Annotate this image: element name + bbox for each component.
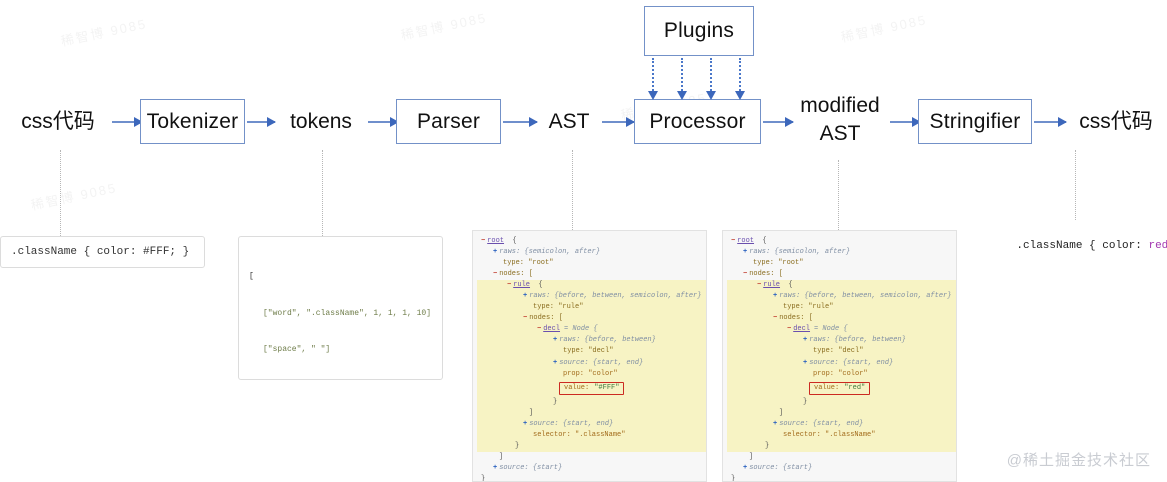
node-tokenizer[interactable]: Tokenizer (140, 99, 245, 144)
panel-ast-after: −root { +raws: {semicolon, after} type: … (722, 230, 957, 482)
background-watermark: 稀智博 9085 (839, 9, 929, 46)
collapse-toggle-icon[interactable]: − (743, 270, 747, 278)
ast-row[interactable]: +raws: {before, between, semicolon, afte… (727, 291, 956, 302)
ast-row: ] (477, 408, 706, 419)
ast-row[interactable]: −rule { (477, 280, 706, 291)
ast-row: ] (727, 408, 956, 419)
arrow-plugin-1 (652, 58, 654, 91)
arrow-modified-ast-to-stringifier (890, 121, 920, 123)
connector-ast (572, 150, 573, 230)
ast-row: } (477, 441, 706, 452)
ast-row[interactable]: −decl= Node { (727, 324, 956, 335)
flow-label-input-css: css代码 (8, 104, 108, 140)
expand-toggle-icon[interactable]: + (553, 359, 557, 367)
expand-toggle-icon[interactable]: + (523, 292, 527, 300)
arrow-ast-to-processor (602, 121, 634, 123)
input-css-code: .className { color: #FFF; } (11, 246, 189, 258)
ast-row[interactable]: −root { (477, 236, 706, 247)
expand-toggle-icon[interactable]: + (493, 248, 497, 256)
collapse-toggle-icon[interactable]: − (507, 281, 511, 289)
ast-row: selector: ".className" (477, 430, 706, 441)
ast-row: } (477, 397, 706, 408)
ast-row: ] (727, 452, 956, 463)
arrow-plugin-2 (681, 58, 683, 91)
panel-input-css: .className { color: #FFF; } (0, 236, 205, 268)
tokens-code: [ ["word", ".className", 1, 1, 1, 10] ["… (239, 237, 442, 380)
arrow-processor-to-modified-ast (763, 121, 793, 123)
background-watermark: 稀智博 9085 (29, 177, 119, 214)
expand-toggle-icon[interactable]: + (743, 248, 747, 256)
arrow-stringifier-to-output (1034, 121, 1066, 123)
ast-row: } (727, 474, 956, 482)
flow-label-output-css: css代码 (1068, 104, 1164, 140)
collapse-toggle-icon[interactable]: − (537, 325, 541, 333)
connector-modified-ast (838, 160, 839, 230)
ast-row[interactable]: +source: {start, end} (727, 419, 956, 430)
expand-toggle-icon[interactable]: + (553, 336, 557, 344)
connector-output-css (1075, 150, 1076, 220)
background-watermark: 稀智博 9085 (399, 7, 489, 44)
ast-row[interactable]: +source: {start, end} (477, 358, 706, 369)
tokens-open-bracket: [ (249, 271, 436, 283)
ast-row[interactable]: −nodes: [ (477, 313, 706, 324)
value-highlight-box: value:"red" (809, 382, 870, 395)
expand-toggle-icon[interactable]: + (803, 359, 807, 367)
ast-row-value-highlight: value:"red" (727, 380, 956, 397)
output-css-selector: .className (1016, 240, 1082, 252)
ast-row[interactable]: +source: {start} (727, 463, 956, 474)
ast-row: prop: "color" (727, 369, 956, 380)
ast-row[interactable]: +raws: {before, between, semicolon, afte… (477, 291, 706, 302)
node-plugins[interactable]: Plugins (644, 6, 754, 56)
flow-label-ast: AST (538, 104, 600, 140)
expand-toggle-icon[interactable]: + (773, 292, 777, 300)
collapse-toggle-icon[interactable]: − (757, 281, 761, 289)
collapse-toggle-icon[interactable]: − (523, 314, 527, 322)
ast-row: type: "rule" (727, 302, 956, 313)
ast-row[interactable]: +source: {start, end} (727, 358, 956, 369)
node-stringifier[interactable]: Stringifier (918, 99, 1032, 144)
site-watermark: @稀土掘金技术社区 (1007, 449, 1151, 470)
background-watermark: 稀智博 9085 (59, 13, 149, 50)
arrow-plugin-3 (710, 58, 712, 91)
node-parser[interactable]: Parser (396, 99, 501, 144)
arrow-plugin-4 (739, 58, 741, 91)
ast-row[interactable]: +source: {start, end} (477, 419, 706, 430)
flow-label-modified-ast: modified AST (792, 86, 888, 154)
ast-row[interactable]: +raws: {before, between} (727, 335, 956, 346)
token-line: ["space", " "] (249, 344, 436, 356)
panel-tokens: [ ["word", ".className", 1, 1, 1, 10] ["… (238, 236, 443, 380)
ast-row[interactable]: −nodes: [ (727, 313, 956, 324)
expand-toggle-icon[interactable]: + (523, 420, 527, 428)
ast-row[interactable]: −rule { (727, 280, 956, 291)
collapse-toggle-icon[interactable]: − (493, 270, 497, 278)
ast-row: type: "rule" (477, 302, 706, 313)
connector-input-css (60, 150, 61, 236)
expand-toggle-icon[interactable]: + (773, 420, 777, 428)
ast-row: type: "root" (477, 258, 706, 269)
ast-row: } (727, 397, 956, 408)
output-css-value: red; (1148, 240, 1167, 252)
expand-toggle-icon[interactable]: + (743, 464, 747, 472)
expand-toggle-icon[interactable]: + (493, 464, 497, 472)
arrow-tokens-to-parser (368, 121, 398, 123)
output-css-property: color: (1102, 240, 1142, 252)
collapse-toggle-icon[interactable]: − (731, 237, 735, 245)
node-processor[interactable]: Processor (634, 99, 761, 144)
arrow-parser-to-ast (503, 121, 537, 123)
ast-row: } (477, 474, 706, 482)
collapse-toggle-icon[interactable]: − (787, 325, 791, 333)
ast-row: } (727, 441, 956, 452)
ast-row[interactable]: +source: {start} (477, 463, 706, 474)
ast-row[interactable]: +raws: {before, between} (477, 335, 706, 346)
ast-row[interactable]: +raws: {semicolon, after} (727, 247, 956, 258)
ast-row[interactable]: −nodes: [ (727, 269, 956, 280)
ast-row[interactable]: −root { (727, 236, 956, 247)
connector-tokens (322, 150, 323, 236)
arrow-tokenizer-to-tokens (247, 121, 275, 123)
panel-output-css: .className { color: red; } (990, 228, 1167, 264)
ast-row[interactable]: −decl= Node { (477, 324, 706, 335)
ast-row: prop: "color" (477, 369, 706, 380)
ast-row: type: "root" (727, 258, 956, 269)
ast-row-value-highlight: value:"#FFF" (477, 380, 706, 397)
ast-row: type: "decl" (477, 346, 706, 357)
ast-row: ] (477, 452, 706, 463)
value-highlight-box: value:"#FFF" (559, 382, 624, 395)
ast-row[interactable]: +raws: {semicolon, after} (477, 247, 706, 258)
ast-row: type: "decl" (727, 346, 956, 357)
collapse-toggle-icon[interactable]: − (773, 314, 777, 322)
token-line: ["word", ".className", 1, 1, 1, 10] (249, 308, 436, 320)
panel-ast-before: −root { +raws: {semicolon, after} type: … (472, 230, 707, 482)
output-css-brace-open: { (1089, 240, 1096, 252)
ast-row[interactable]: −nodes: [ (477, 269, 706, 280)
diagram-canvas: 稀智博 9085 稀智博 9085 稀智博 9085 稀智博 9085 稀智博 … (0, 0, 1167, 482)
arrow-input-to-tokenizer (112, 121, 142, 123)
ast-row: selector: ".className" (727, 430, 956, 441)
collapse-toggle-icon[interactable]: − (481, 237, 485, 245)
flow-label-tokens: tokens (276, 104, 366, 140)
expand-toggle-icon[interactable]: + (803, 336, 807, 344)
